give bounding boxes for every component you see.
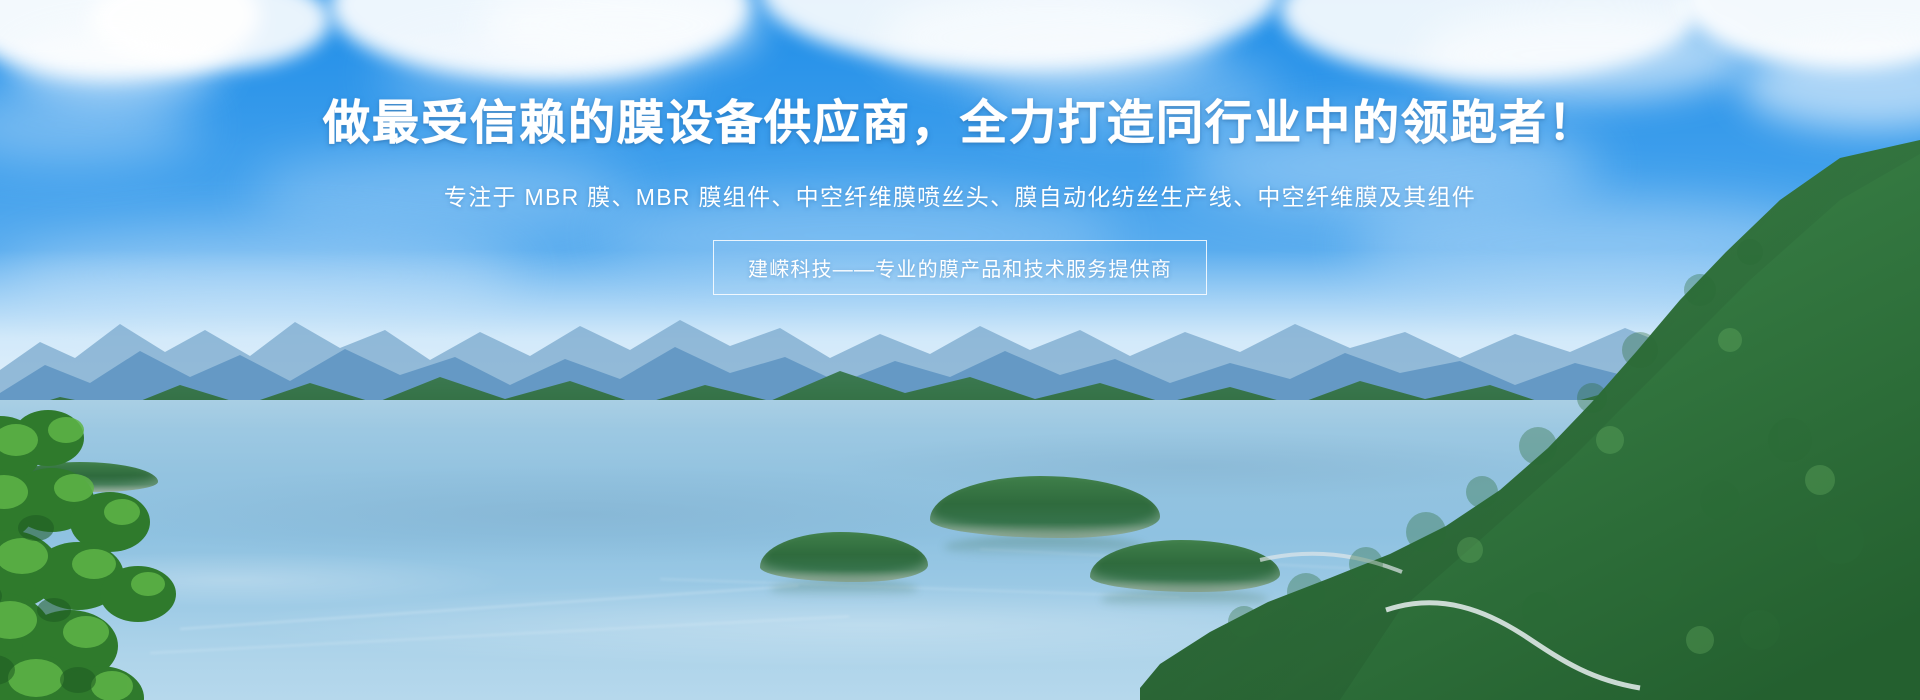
foreground-tree (0, 380, 300, 700)
tagline-box: 建嵘科技——专业的膜产品和技术服务提供商 (713, 240, 1207, 295)
hero-banner: 做最受信赖的膜设备供应商，全力打造同行业中的领跑者！ 专注于 MBR 膜、MBR… (0, 0, 1920, 700)
company-tagline: 建嵘科技——专业的膜产品和技术服务提供商 (748, 253, 1172, 282)
lake-island (760, 532, 928, 582)
banner-text-content: 做最受信赖的膜设备供应商，全力打造同行业中的领跑者！ 专注于 MBR 膜、MBR… (0, 0, 1920, 295)
lake-island (930, 476, 1160, 538)
page-title: 做最受信赖的膜设备供应商，全力打造同行业中的领跑者！ (323, 96, 1597, 151)
banner-subtitle: 专注于 MBR 膜、MBR 膜组件、中空纤维膜喷丝头、膜自动化纺丝生产线、中空纤… (444, 181, 1476, 213)
